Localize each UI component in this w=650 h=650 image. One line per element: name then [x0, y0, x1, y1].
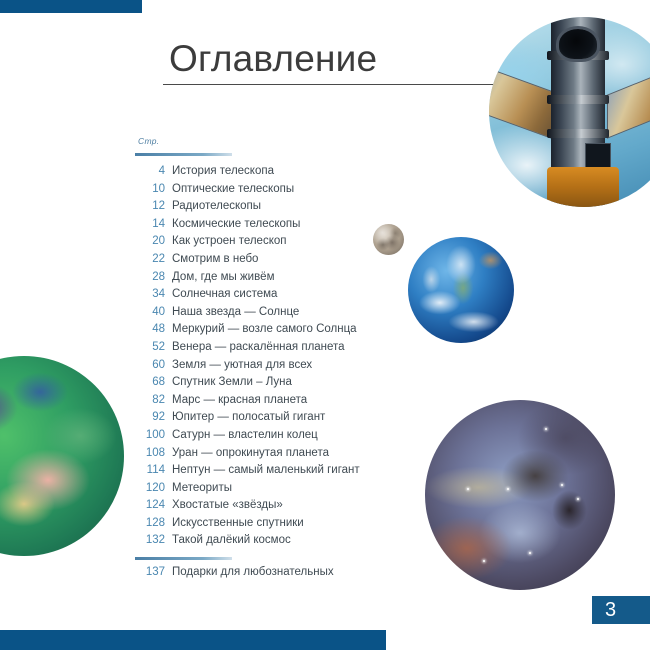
solar-panel-right	[607, 59, 650, 139]
toc-entry[interactable]: 20Как устроен телескоп	[135, 235, 395, 253]
toc-entry-page-number: 48	[135, 323, 165, 335]
toc-entry-title: Как устроен телескоп	[165, 235, 286, 247]
toc-entry-page-number: 108	[135, 447, 165, 459]
toc-entry-page-number: 22	[135, 253, 165, 265]
toc-entry-title: Оптические телескопы	[165, 183, 294, 195]
toc-entry-title: Уран — опрокинутая планета	[165, 447, 329, 459]
toc-entry[interactable]: 52Венера — раскалённая планета	[135, 341, 395, 359]
toc-entry[interactable]: 28Дом, где мы живём	[135, 271, 395, 289]
venus-radar-map-photo	[0, 356, 124, 556]
bottom-accent-bar	[0, 630, 386, 650]
page-column-label: Стр.	[138, 136, 159, 146]
page-number-badge: 3	[592, 596, 650, 624]
toc-entry[interactable]: 120Метеориты	[135, 482, 395, 500]
toc-entry-page-number: 12	[135, 200, 165, 212]
toc-entry-page-number: 100	[135, 429, 165, 441]
toc-entry[interactable]: 10Оптические телескопы	[135, 183, 395, 201]
toc-entry[interactable]: 128Искусственные спутники	[135, 517, 395, 535]
toc-entry-title: Хвостатые «звёзды»	[165, 499, 283, 511]
toc-entry-title: Юпитер — полосатый гигант	[165, 411, 325, 423]
toc-entry-page-number: 28	[135, 271, 165, 283]
toc-entry-page-number: 137	[135, 566, 165, 578]
toc-entry[interactable]: 108Уран — опрокинутая планета	[135, 447, 395, 465]
toc-entry[interactable]: 4История телескопа	[135, 165, 395, 183]
toc-entry-title: Дом, где мы живём	[165, 271, 274, 283]
toc-entry[interactable]: 48Меркурий — возле самого Солнца	[135, 323, 395, 341]
toc-entry-page-number: 92	[135, 411, 165, 423]
toc-entry-title: Смотрим в небо	[165, 253, 258, 265]
table-of-contents: 4История телескопа10Оптические телескопы…	[135, 165, 395, 552]
toc-entry-title: Земля — уютная для всех	[165, 359, 312, 371]
star-speck	[467, 488, 469, 490]
toc-entry[interactable]: 22Смотрим в небо	[135, 253, 395, 271]
toc-entry-page-number: 20	[135, 235, 165, 247]
toc-entry-title: Нептун — самый маленький гигант	[165, 464, 360, 476]
toc-entry-title: Солнечная система	[165, 288, 277, 300]
toc-entry-page-number: 68	[135, 376, 165, 388]
toc-entry[interactable]: 82Марс — красная планета	[135, 394, 395, 412]
toc-entry-title: Такой далёкий космос	[165, 534, 291, 546]
star-speck	[577, 498, 579, 500]
toc-entry[interactable]: 92Юпитер — полосатый гигант	[135, 411, 395, 429]
toc-entry-title: Меркурий — возле самого Солнца	[165, 323, 357, 335]
toc-entry-title: История телескопа	[165, 165, 274, 177]
toc-entry-title: Наша звезда — Солнце	[165, 306, 299, 318]
toc-entry-page-number: 10	[135, 183, 165, 195]
toc-entry-title: Спутник Земли – Луна	[165, 376, 292, 388]
telescope-ring-lower	[547, 129, 609, 138]
toc-entry-page-number: 4	[135, 165, 165, 177]
toc-entry-title: Космические телескопы	[165, 218, 300, 230]
toc-entry-page-number: 60	[135, 359, 165, 371]
toc-entry-title: Подарки для любознательных	[165, 566, 334, 578]
star-speck	[545, 428, 547, 430]
star-speck	[507, 488, 509, 490]
title-underline	[163, 84, 511, 85]
toc-entry-page-number: 120	[135, 482, 165, 494]
hubble-space-telescope-photo	[489, 17, 650, 207]
telescope-ring-mid	[547, 95, 609, 104]
toc-entry[interactable]: 124Хвостатые «звёзды»	[135, 499, 395, 517]
toc-entry[interactable]: 132Такой далёкий космос	[135, 534, 395, 552]
moon-photo	[373, 224, 404, 255]
toc-entry[interactable]: 14Космические телескопы	[135, 218, 395, 236]
toc-entry[interactable]: 100Сатурн — властелин колец	[135, 429, 395, 447]
toc-entry[interactable]: 68Спутник Земли – Луна	[135, 376, 395, 394]
toc-entry[interactable]: 40Наша звезда — Солнце	[135, 306, 395, 324]
toc-entry-title: Сатурн — властелин колец	[165, 429, 318, 441]
toc-entry-page-number: 124	[135, 499, 165, 511]
toc-entry[interactable]: 137Подарки для любознательных	[135, 566, 395, 584]
toc-entry[interactable]: 12Радиотелескопы	[135, 200, 395, 218]
toc-entry-title: Искусственные спутники	[165, 517, 304, 529]
toc-entry[interactable]: 60Земля — уютная для всех	[135, 359, 395, 377]
toc-entry-page-number: 114	[135, 464, 165, 476]
toc-entry-page-number: 128	[135, 517, 165, 529]
toc-entry-title: Радиотелескопы	[165, 200, 261, 212]
toc-divider	[135, 557, 232, 560]
toc-entry[interactable]: 114Нептун — самый маленький гигант	[135, 464, 395, 482]
toc-entry[interactable]: 34Солнечная система	[135, 288, 395, 306]
star-speck	[529, 552, 531, 554]
toc-entry-title: Венера — раскалённая планета	[165, 341, 345, 353]
table-of-contents-appendix: 137Подарки для любознательных	[135, 566, 395, 584]
earth-photo	[408, 237, 514, 343]
toc-entry-page-number: 132	[135, 534, 165, 546]
toc-entry-page-number: 40	[135, 306, 165, 318]
telescope-aperture	[559, 29, 597, 59]
toc-entry-page-number: 82	[135, 394, 165, 406]
toc-entry-page-number: 34	[135, 288, 165, 300]
toc-entry-page-number: 14	[135, 218, 165, 230]
top-accent-bar	[0, 0, 142, 13]
toc-entry-page-number: 52	[135, 341, 165, 353]
star-speck	[561, 484, 563, 486]
star-speck	[483, 560, 485, 562]
column-label-rule	[135, 153, 232, 156]
nebula-photo	[425, 400, 615, 590]
page-title: Оглавление	[169, 40, 377, 77]
toc-entry-title: Марс — красная планета	[165, 394, 307, 406]
telescope-base	[547, 167, 619, 207]
toc-entry-title: Метеориты	[165, 482, 232, 494]
